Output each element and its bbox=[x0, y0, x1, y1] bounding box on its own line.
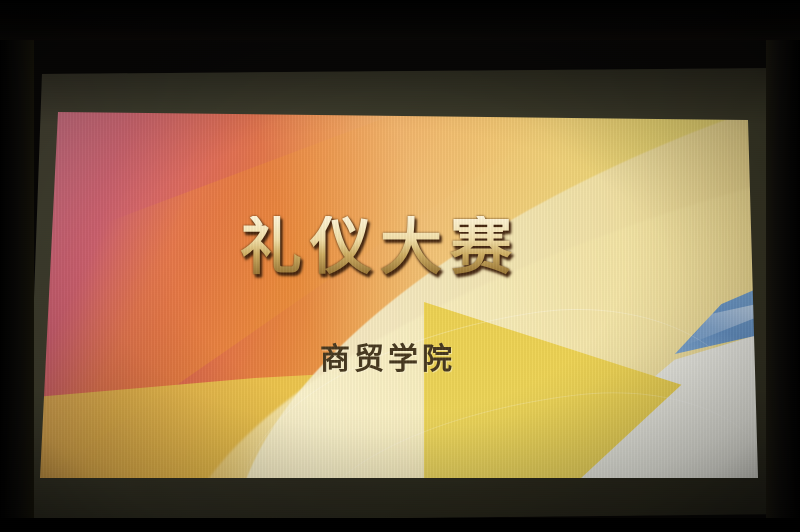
photo-scene: 礼仪大赛 礼仪大赛 商贸学院 bbox=[0, 0, 800, 532]
wall-right-edge bbox=[766, 0, 800, 532]
wall-top-edge bbox=[0, 0, 800, 40]
wall-left-edge bbox=[0, 0, 34, 532]
top-left-haze bbox=[34, 106, 770, 484]
wall-bottom-edge bbox=[0, 518, 800, 532]
